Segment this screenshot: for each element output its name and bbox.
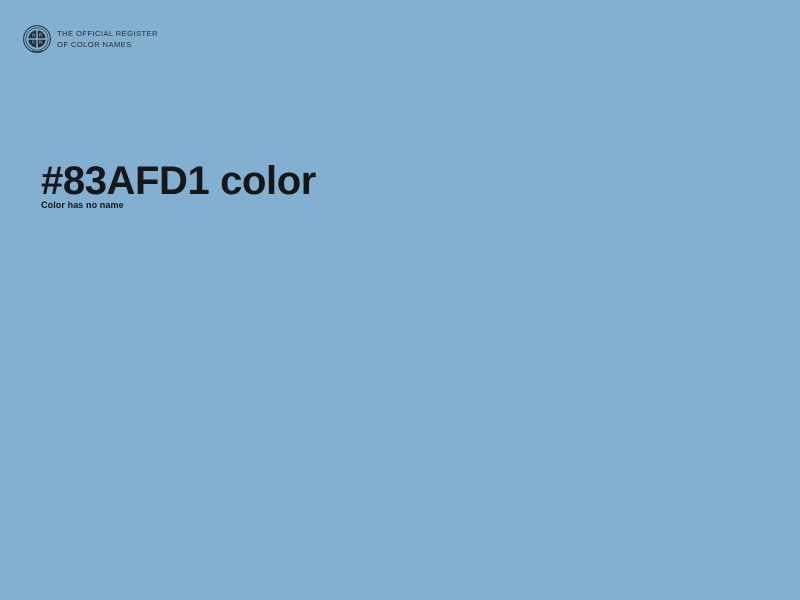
brand-wordmark-line-2: OF COLOR NAMES <box>57 40 158 51</box>
brand-wordmark-line-1: THE OFFICIAL REGISTER <box>57 29 158 40</box>
color-name-status: Color has no name <box>41 199 124 211</box>
orcn-seal-icon: O R C N <box>22 24 52 54</box>
svg-text:N: N <box>39 40 42 45</box>
brand-lockup[interactable]: O R C N THE OFFICIAL REGISTER OF COLOR N… <box>22 24 158 54</box>
svg-text:C: C <box>32 40 35 45</box>
brand-wordmark: THE OFFICIAL REGISTER OF COLOR NAMES <box>57 28 158 50</box>
color-page: O R C N THE OFFICIAL REGISTER OF COLOR N… <box>0 0 800 600</box>
page-title: #83AFD1 color <box>41 157 316 205</box>
